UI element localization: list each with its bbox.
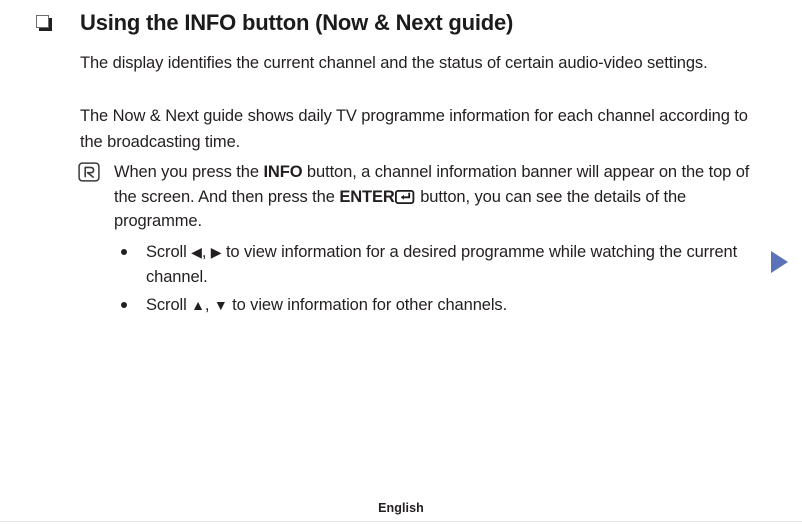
paragraph-display-identifies: The display identifies the current chann… [80, 50, 752, 76]
note-keyword-enter: ENTER [339, 188, 394, 206]
note-block: When you press the INFO button, a channe… [78, 160, 768, 234]
bullet-separator: , [202, 243, 211, 261]
next-page-arrow-icon[interactable] [771, 251, 788, 273]
right-arrow-icon: ▶ [211, 244, 222, 260]
bullet-list: Scroll ◀, ▶ to view information for a de… [118, 240, 768, 322]
down-arrow-icon: ▼ [214, 297, 228, 313]
bullet-suffix: to view information for other channels. [228, 296, 507, 314]
note-keyword-info: INFO [263, 163, 302, 181]
bullet-prefix: Scroll [146, 296, 191, 314]
up-arrow-icon: ▲ [191, 297, 205, 313]
bullet-scroll-up-down: Scroll ▲, ▼ to view information for othe… [118, 293, 768, 318]
left-arrow-icon: ◀ [191, 244, 202, 260]
manual-page: Using the INFO button (Now & Next guide)… [0, 0, 802, 525]
bullet-suffix: to view information for a desired progra… [146, 243, 737, 286]
paragraph-now-next-guide: The Now & Next guide shows daily TV prog… [80, 103, 752, 155]
note-text: When you press the INFO button, a channe… [114, 160, 768, 234]
bullet-prefix: Scroll [146, 243, 191, 261]
round-dot-bullet-icon [121, 249, 127, 255]
footer-language-label: English [0, 501, 802, 515]
note-text-part1: When you press the [114, 163, 263, 181]
page-title: Using the INFO button (Now & Next guide) [80, 6, 513, 40]
bullet-separator: , [205, 296, 214, 314]
footer-divider [0, 521, 802, 522]
note-pencil-icon [78, 162, 100, 182]
enter-key-icon [395, 187, 415, 201]
round-dot-bullet-icon [121, 302, 127, 308]
outlined-square-bullet-icon [36, 15, 52, 31]
section-heading: Using the INFO button (Now & Next guide) [36, 6, 762, 40]
bullet-scroll-left-right: Scroll ◀, ▶ to view information for a de… [118, 240, 768, 289]
